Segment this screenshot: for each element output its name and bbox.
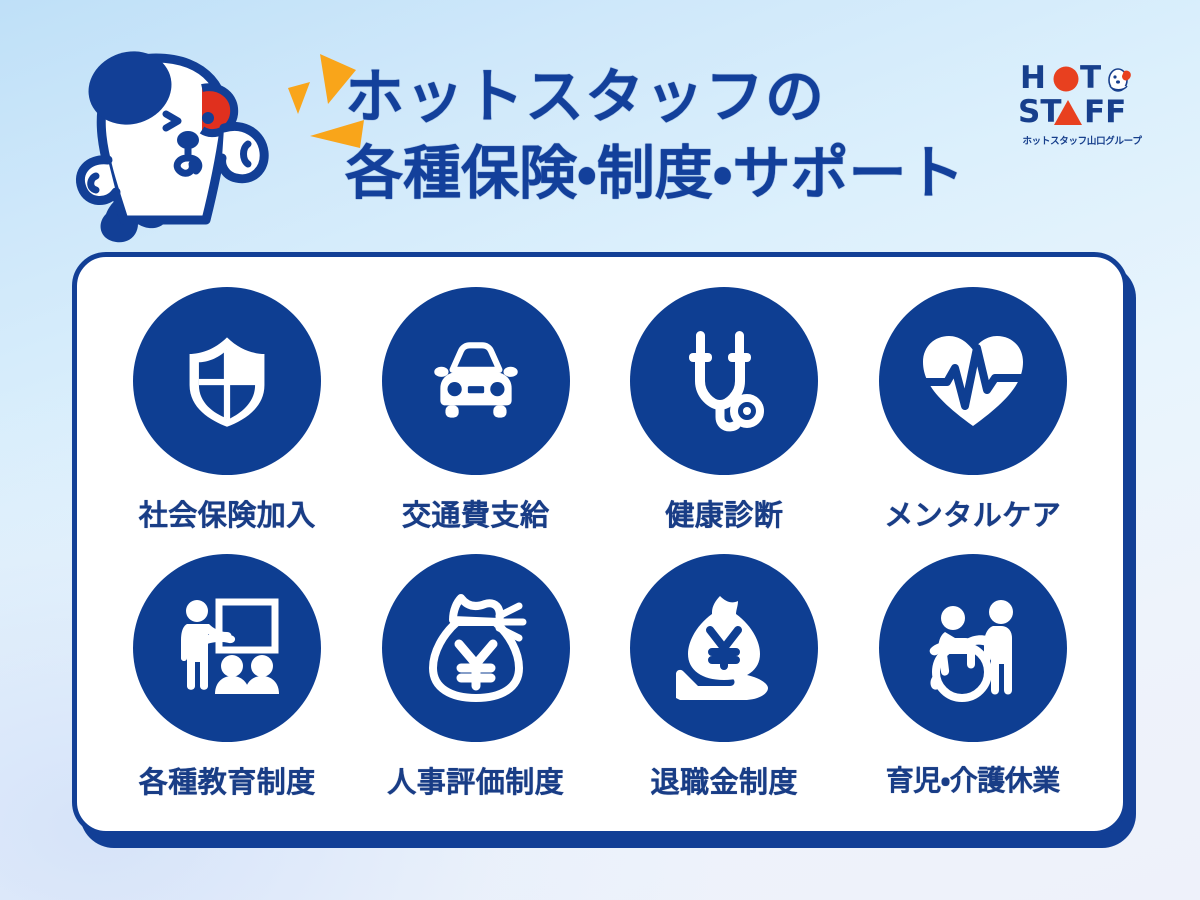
benefit-label: 交通費支給 [402, 492, 550, 534]
benefit-label: 育児・介護休業 [886, 759, 1060, 799]
benefit-label: 人事評価制度 [387, 759, 564, 801]
car-icon [420, 325, 532, 437]
benefit-label: 各種教育制度 [139, 759, 316, 801]
training-presentation-icon [171, 592, 283, 704]
benefit-icon-badge [879, 554, 1067, 742]
stethoscope-icon [672, 325, 776, 437]
shield-icon [175, 329, 279, 433]
benefit-label: 社会保険加入 [139, 492, 316, 534]
benefit-item-mental-care[interactable]: メンタルケア [849, 279, 1098, 546]
benefit-icon-badge [879, 287, 1067, 475]
benefit-label: メンタルケア [884, 492, 1061, 534]
logo-red-circle [1054, 67, 1079, 92]
page-header: ホットスタッフの 各種保険・制度・サポート H T ST [0, 0, 1200, 250]
benefit-icon-badge [382, 287, 570, 475]
benefit-item-social-insurance[interactable]: 社会保険加入 [103, 279, 352, 546]
benefits-card: 社会保険加入 [72, 252, 1136, 848]
hand-holding-money-bag-icon [668, 592, 780, 704]
benefits-grid: 社会保険加入 [77, 257, 1123, 831]
wheelchair-care-icon [917, 592, 1029, 704]
benefit-item-training-programs[interactable]: 各種教育制度 [103, 546, 352, 813]
svg-text:FF: FF [1084, 94, 1126, 130]
benefit-item-retirement-allowance[interactable]: 退職金制度 [600, 546, 849, 813]
benefit-item-health-checkup[interactable]: 健康診断 [600, 279, 849, 546]
benefit-item-transport-allowance[interactable]: 交通費支給 [352, 279, 601, 546]
hot-staff-logo: H T ST FF ホットスタッフ山口グループ [1012, 58, 1152, 154]
benefit-item-childcare-nursing-leave[interactable]: 育児・介護休業 [849, 546, 1098, 813]
benefit-icon-badge [630, 554, 818, 742]
page-title-line-2: 各種保険・制度・サポート [345, 135, 1005, 212]
page-title: ホットスタッフの 各種保険・制度・サポート [345, 58, 1005, 212]
benefit-label: 退職金制度 [650, 759, 798, 801]
heart-pulse-icon [917, 328, 1029, 434]
logo-dog-mascot [1109, 69, 1131, 91]
logo-word-top: H [1020, 60, 1047, 96]
hot-staff-dog-mascot [38, 18, 288, 268]
page-title-line-1: ホットスタッフの [345, 58, 1005, 135]
benefit-label: 健康診断 [665, 492, 783, 534]
benefit-icon-badge [133, 287, 321, 475]
benefit-icon-badge [630, 287, 818, 475]
money-bag-yen-icon [423, 592, 529, 704]
logo-tagline: ホットスタッフ山口グループ [1012, 133, 1152, 147]
benefit-item-performance-review[interactable]: 人事評価制度 [352, 546, 601, 813]
benefit-icon-badge [133, 554, 321, 742]
benefit-icon-badge [382, 554, 570, 742]
logo-mark: H T ST FF [1012, 58, 1152, 132]
svg-text:T: T [1080, 60, 1101, 96]
